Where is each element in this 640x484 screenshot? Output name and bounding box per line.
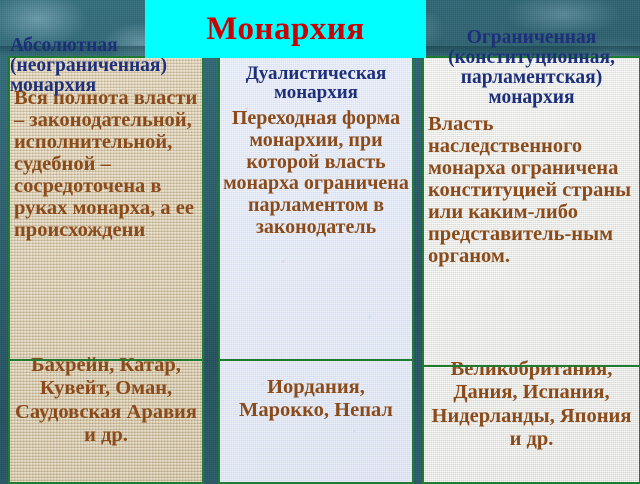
slide-title-box: Монархия	[145, 0, 426, 58]
slide-title: Монархия	[206, 13, 364, 46]
column-divider-dualistic	[218, 359, 414, 361]
column-countries-absolute-monarchy: Бахрейн, Катар, Кувейт, Оман, Саудовская…	[10, 354, 202, 447]
column-absolute-monarchy: Абсолютная (неограниченная) монархия Вся…	[8, 56, 204, 484]
column-limited-monarchy: Ограниченная (конституционная, парламент…	[422, 56, 640, 484]
column-body-limited-monarchy: Власть наследственного монарха ограничен…	[424, 114, 639, 367]
column-body-absolute-monarchy: Вся полнота власти – законодательной, ис…	[10, 88, 202, 361]
column-body-dualistic-monarchy: Переходная форма монархии, при которой в…	[220, 108, 412, 361]
column-countries-limited-monarchy: Великобритания, Дания, Испания, Нидерлан…	[424, 358, 639, 451]
column-dualistic-monarchy: Дуалистическая монархия Переходная форма…	[218, 56, 414, 484]
column-divider-absolute	[8, 359, 204, 361]
column-countries-dualistic-monarchy: Иордания, Марокко, Непал	[220, 376, 412, 423]
column-divider-limited	[422, 365, 640, 367]
column-heading-dualistic-monarchy: Дуалистическая монархия	[220, 64, 412, 103]
